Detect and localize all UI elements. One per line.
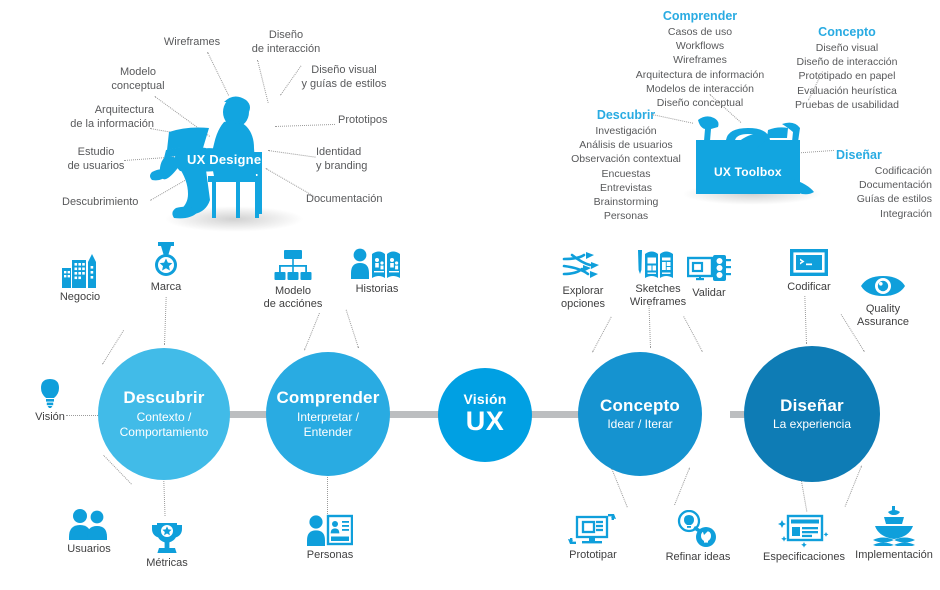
users-icon: [67, 508, 111, 540]
satellite-refinar[interactable]: Refinar ideas: [656, 510, 740, 564]
designer-label-wireframes: Wireframes: [152, 36, 232, 50]
satellite-metricas[interactable]: Métricas: [136, 522, 198, 570]
satellite-vision[interactable]: Visión: [22, 378, 78, 424]
satellite-label: Historias: [356, 283, 399, 296]
lightbulb-icon: [39, 378, 61, 408]
toolbox-group-title-comprender: Comprender: [630, 9, 770, 23]
flow-node-comprender[interactable]: Comprender Interpretar / Entender: [266, 352, 390, 476]
flow-node-subtitle: UX: [466, 405, 505, 439]
satellite-negocio[interactable]: Negocio: [48, 254, 112, 304]
designer-label-descubrimiento: Descubrimiento: [62, 196, 162, 210]
toolbox-group-title-disenar: Diseñar: [836, 148, 916, 162]
terminal-icon: [789, 248, 829, 278]
designer-label-modelo-conceptual: Modelo conceptual: [98, 66, 178, 94]
leader-line: [804, 296, 807, 344]
flow-node-title: Descubrir: [123, 388, 204, 408]
satellite-personas[interactable]: Personas: [294, 514, 366, 562]
leader-line: [674, 468, 690, 505]
satellite-label: Implementación: [855, 549, 933, 562]
satellite-label: Métricas: [146, 557, 188, 570]
leader-line: [327, 472, 328, 516]
satellite-label: Prototipar: [569, 549, 617, 562]
flow-node-vision-ux[interactable]: Visión UX: [438, 368, 532, 462]
toolbox-group-title-concepto: Concepto: [782, 25, 912, 39]
satellite-marca[interactable]: Marca: [138, 242, 194, 294]
leader-line: [346, 310, 359, 348]
flow-node-concepto[interactable]: Concepto Idear / Iterar: [578, 352, 702, 476]
toolbox-caption: UX Toolbox: [714, 165, 782, 179]
satellite-label: Visión: [35, 411, 65, 424]
ux-process-infographic: UX Designer Wireframes Diseño de interac…: [0, 0, 940, 590]
spec-wireframe-icon: [776, 512, 832, 548]
toolbox-group-items-disenar: Codificación Documentación Guías de esti…: [816, 164, 932, 221]
rail-vision-concepto: [530, 411, 580, 418]
satellite-validar[interactable]: Validar: [678, 254, 740, 300]
designer-label-identidad: Identidad y branding: [316, 146, 396, 174]
trophy-icon: [150, 522, 184, 554]
designer-label-prototipos: Prototipos: [338, 114, 418, 128]
satellite-especificaciones[interactable]: Especificaciones: [752, 512, 856, 564]
leader-line: [102, 330, 124, 364]
flow-node-subtitle: Interpretar / Entender: [297, 410, 359, 440]
designer-caption: UX Designer: [187, 152, 267, 167]
leader-line: [649, 306, 651, 348]
designer-label-estudio-usuarios: Estudio de usuarios: [60, 146, 132, 174]
leader-line: [164, 297, 167, 345]
satellite-implementacion[interactable]: Implementación: [846, 506, 940, 562]
satellite-codificar[interactable]: Codificar: [776, 248, 842, 294]
toolbox-group-items-concepto: Diseño visual Diseño de interacción Prot…: [765, 41, 929, 112]
flow-node-title: Comprender: [276, 388, 379, 408]
toolbox-group-items-descubrir: Investigación Análisis de usuarios Obser…: [560, 124, 692, 223]
satellite-label: Usuarios: [67, 543, 110, 556]
satellite-historias[interactable]: Historias: [340, 248, 414, 296]
toolbox-panel: UX Toolbox Comprender Casos de uso Workf…: [560, 0, 940, 235]
satellite-label: Explorar opciones: [561, 285, 605, 311]
satellite-label: Quality Assurance: [857, 303, 909, 329]
satellite-label: Validar: [692, 287, 725, 300]
person-book-icon: [351, 248, 403, 280]
flow-node-subtitle: Contexto / Comportamiento: [120, 410, 209, 440]
satellite-label: Modelo de acciónes: [264, 285, 323, 311]
flow-node-title: Diseñar: [780, 396, 844, 416]
sketchbook-icon: [635, 248, 681, 280]
satellite-modelo-acciones[interactable]: Modelo de acciónes: [256, 250, 330, 311]
leader-line: [592, 317, 612, 353]
ship-icon: [871, 506, 917, 546]
satellite-explorar[interactable]: Explorar opciones: [548, 252, 618, 311]
branching-arrows-icon: [561, 252, 605, 282]
process-flow: Descubrir Contexto / Comportamiento Comp…: [0, 240, 940, 590]
ux-toolbox-silhouette: [686, 112, 816, 198]
monitor-refresh-icon: [568, 512, 618, 546]
rail-comprender-vision: [388, 411, 440, 418]
designer-panel: UX Designer Wireframes Diseño de interac…: [0, 0, 470, 240]
two-bulbs-icon: [676, 510, 720, 548]
designer-label-diseno-interaccion: Diseño de interacción: [240, 29, 332, 57]
flow-node-title: Concepto: [600, 396, 680, 416]
satellite-usuarios[interactable]: Usuarios: [54, 508, 124, 556]
satellite-label: Especificaciones: [763, 551, 845, 564]
satellite-label: Negocio: [60, 291, 100, 304]
satellite-label: Refinar ideas: [666, 551, 731, 564]
flow-node-disenar[interactable]: Diseñar La experiencia: [744, 346, 880, 482]
designer-label-diseno-visual: Diseño visual y guías de estilos: [288, 64, 400, 92]
leader-line: [304, 313, 320, 350]
buildings-icon: [61, 254, 99, 288]
flow-node-subtitle: La experiencia: [773, 417, 851, 432]
medal-icon: [152, 242, 180, 278]
sitemap-icon: [274, 250, 312, 282]
person-card-icon: [307, 514, 353, 546]
leader-line: [207, 52, 229, 96]
satellite-prototipar[interactable]: Prototipar: [556, 512, 630, 562]
satellite-label: Personas: [307, 549, 353, 562]
traffic-light-icon: [687, 254, 731, 284]
satellite-qa[interactable]: Quality Assurance: [846, 274, 920, 329]
flow-node-subtitle: Idear / Iterar: [607, 417, 672, 432]
satellite-label: Marca: [151, 281, 182, 294]
satellite-label: Codificar: [787, 281, 830, 294]
designer-label-arquitectura: Arquitectura de la información: [58, 104, 154, 132]
flow-node-descubrir[interactable]: Descubrir Contexto / Comportamiento: [98, 348, 230, 480]
eye-icon: [860, 274, 906, 300]
leader-line: [683, 316, 703, 352]
